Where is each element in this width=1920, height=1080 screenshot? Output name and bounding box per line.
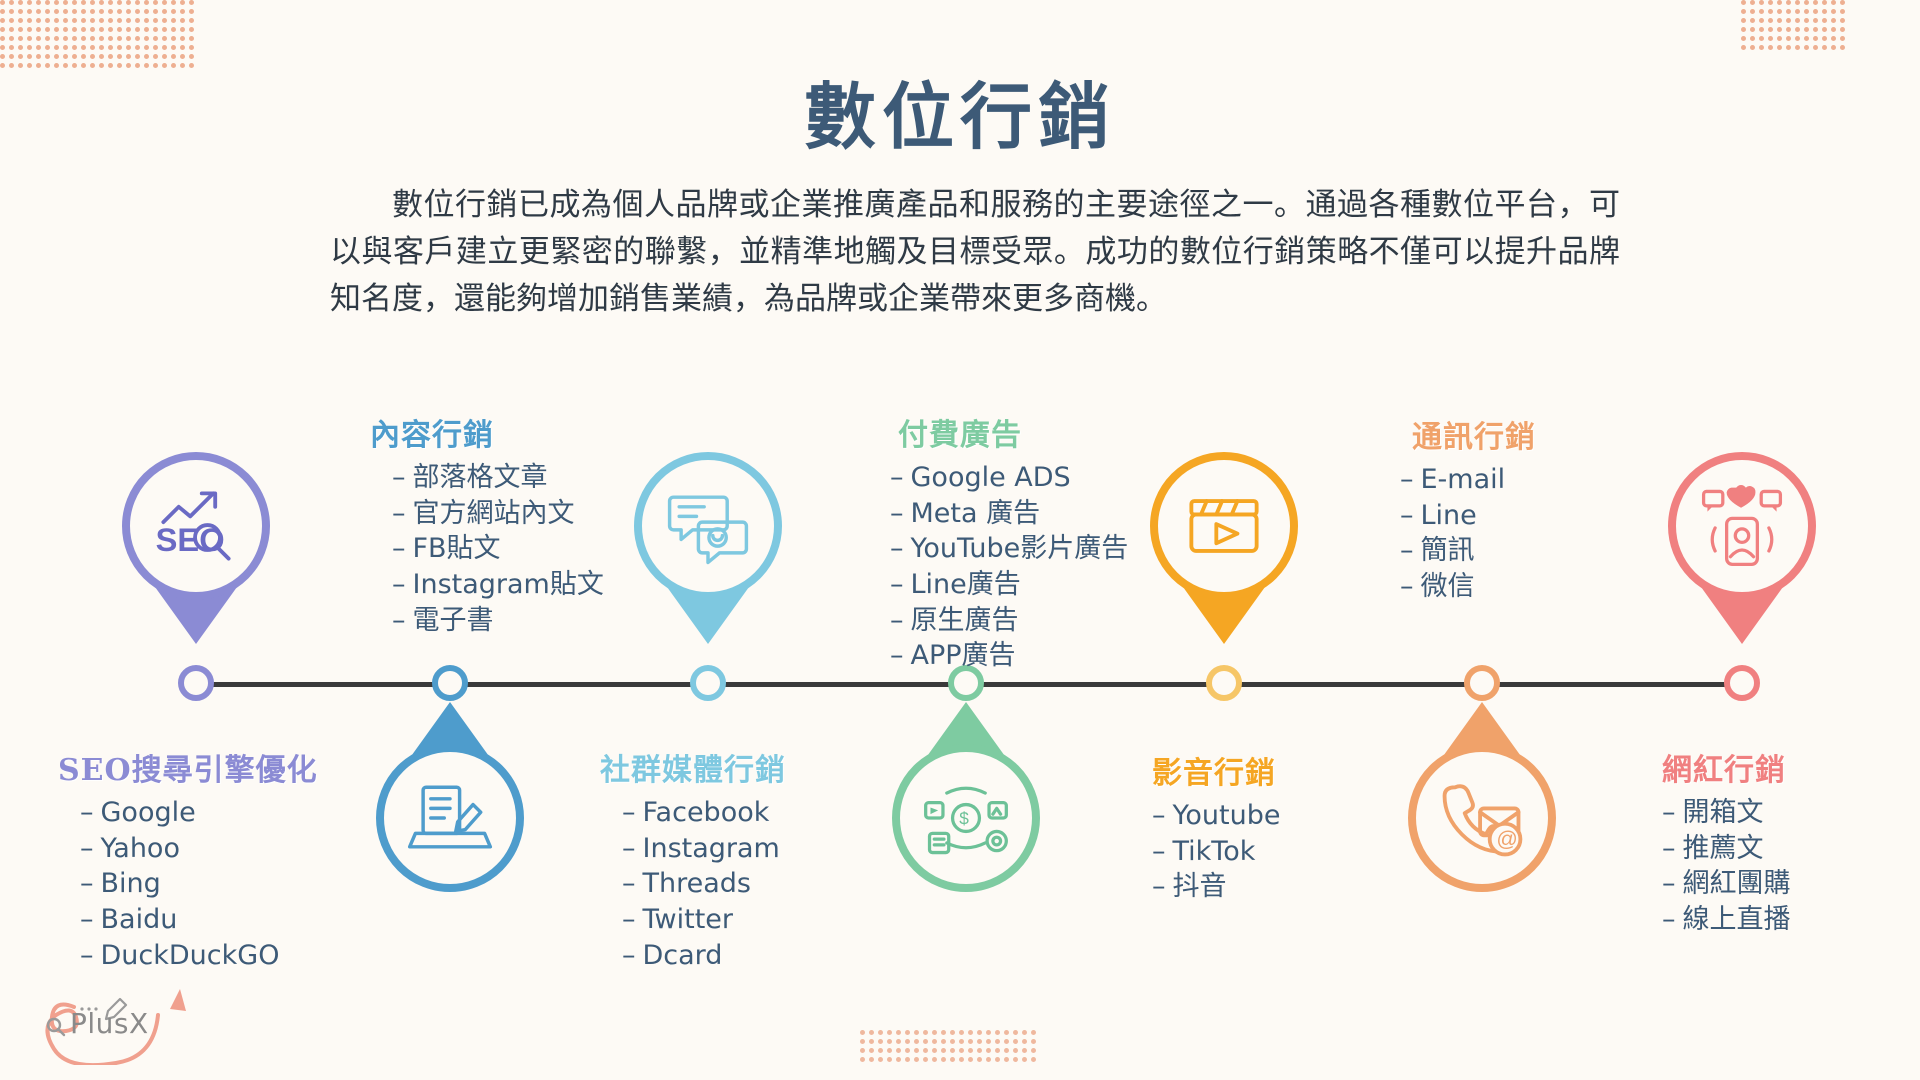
timeline-node-communication-marketing[interactable] bbox=[1464, 665, 1500, 701]
list-item: –簡訊 bbox=[1400, 533, 1536, 569]
pin-bulb-seo: SEO bbox=[122, 452, 270, 600]
seo-chart-magnifier-icon: SEO bbox=[148, 478, 244, 574]
pin-bulb-content-marketing bbox=[376, 744, 524, 892]
document-pencil-laptop-icon bbox=[402, 770, 498, 866]
pin-content-marketing[interactable] bbox=[376, 702, 524, 892]
chat-bubbles-icon bbox=[660, 478, 756, 574]
list-item: –Line廣告 bbox=[890, 567, 1128, 603]
list-item: –電子書 bbox=[392, 603, 604, 639]
section-heading-content-marketing: 內容行銷 bbox=[370, 410, 604, 454]
intro-paragraph: 數位行銷已成為個人品牌或企業推廣產品和服務的主要途徑之一。通過各種數位平台，可以… bbox=[330, 182, 1620, 323]
section-social-media-marketing: 社群媒體行銷 –Facebook –Instagram –Threads –Tw… bbox=[600, 745, 786, 973]
section-heading-video-marketing: 影音行銷 bbox=[1152, 748, 1281, 792]
list-item: –Baidu bbox=[80, 902, 318, 938]
list-item: –Google ADS bbox=[890, 460, 1128, 496]
pin-bulb-communication-marketing: @ bbox=[1408, 744, 1556, 892]
section-heading-paid-advertising: 付費廣告 bbox=[898, 410, 1128, 454]
list-item: –APP廣告 bbox=[890, 638, 1128, 674]
list-item: –E-mail bbox=[1400, 462, 1536, 498]
svg-text:@: @ bbox=[1496, 828, 1517, 851]
list-item: –Dcard bbox=[622, 938, 786, 974]
pin-bulb-influencer-marketing bbox=[1668, 452, 1816, 600]
timeline-node-video-marketing[interactable] bbox=[1206, 665, 1242, 701]
plusx-logo: PlusX bbox=[22, 985, 192, 1065]
phone-hearts-icon bbox=[1694, 478, 1790, 574]
section-list-social-media-marketing: –Facebook –Instagram –Threads –Twitter –… bbox=[600, 795, 786, 973]
section-content-marketing: 內容行銷 –部落格文章 –官方網站內文 –FB貼文 –Instagram貼文 –… bbox=[370, 410, 604, 638]
timeline-node-social-media-marketing[interactable] bbox=[690, 665, 726, 701]
section-list-video-marketing: –Youtube –TikTok –抖音 bbox=[1130, 798, 1281, 905]
list-item: –微信 bbox=[1400, 569, 1536, 605]
list-item: –TikTok bbox=[1152, 834, 1281, 870]
list-item: –官方網站內文 bbox=[392, 496, 604, 532]
page-title: 數位行銷 bbox=[0, 58, 1920, 163]
list-item: –DuckDuckGO bbox=[80, 938, 318, 974]
phone-envelope-at-icon: @ bbox=[1434, 770, 1530, 866]
section-list-paid-advertising: –Google ADS –Meta 廣告 –YouTube影片廣告 –Line廣… bbox=[890, 460, 1128, 674]
list-item: –Twitter bbox=[622, 902, 786, 938]
list-item: –部落格文章 bbox=[392, 460, 604, 496]
section-communication-marketing: 通訊行銷 –E-mail –Line –簡訊 –微信 bbox=[1400, 412, 1536, 605]
timeline-node-seo[interactable] bbox=[178, 665, 214, 701]
list-item: –Facebook bbox=[622, 795, 786, 831]
timeline-node-influencer-marketing[interactable] bbox=[1724, 665, 1760, 701]
pin-video-marketing[interactable] bbox=[1150, 452, 1298, 644]
list-item: –開箱文 bbox=[1662, 795, 1791, 831]
section-heading-social-media-marketing: 社群媒體行銷 bbox=[600, 745, 786, 789]
pin-bulb-paid-advertising: $ bbox=[892, 744, 1040, 892]
section-list-communication-marketing: –E-mail –Line –簡訊 –微信 bbox=[1400, 462, 1536, 605]
section-list-influencer-marketing: –開箱文 –推薦文 –網紅團購 –線上直播 bbox=[1640, 795, 1791, 938]
pin-bulb-social-media-marketing bbox=[634, 452, 782, 600]
pin-bulb-video-marketing bbox=[1150, 452, 1298, 600]
list-item: –Line bbox=[1400, 498, 1536, 534]
clapperboard-play-icon bbox=[1176, 478, 1272, 574]
section-influencer-marketing: 網紅行銷 –開箱文 –推薦文 –網紅團購 –線上直播 bbox=[1640, 745, 1791, 938]
section-heading-influencer-marketing: 網紅行銷 bbox=[1662, 745, 1791, 789]
list-item: –Instagram貼文 bbox=[392, 567, 604, 603]
list-item: –YouTube影片廣告 bbox=[890, 531, 1128, 567]
section-video-marketing: 影音行銷 –Youtube –TikTok –抖音 bbox=[1130, 748, 1281, 905]
section-list-content-marketing: –部落格文章 –官方網站內文 –FB貼文 –Instagram貼文 –電子書 bbox=[370, 460, 604, 638]
list-item: –線上直播 bbox=[1662, 902, 1791, 938]
list-item: –Youtube bbox=[1152, 798, 1281, 834]
list-item: –Meta 廣告 bbox=[890, 496, 1128, 532]
list-item: –FB貼文 bbox=[392, 531, 604, 567]
section-heading-communication-marketing: 通訊行銷 bbox=[1412, 412, 1536, 456]
list-item: –Google bbox=[80, 795, 318, 831]
list-item: –Threads bbox=[622, 866, 786, 902]
megaphone-ads-icon: $ bbox=[918, 770, 1014, 866]
section-list-seo: –Google –Yahoo –Bing –Baidu –DuckDuckGO bbox=[58, 795, 318, 973]
list-item: –推薦文 bbox=[1662, 831, 1791, 867]
svg-text:$: $ bbox=[959, 809, 969, 829]
list-item: –Bing bbox=[80, 866, 318, 902]
section-paid-advertising: 付費廣告 –Google ADS –Meta 廣告 –YouTube影片廣告 –… bbox=[890, 410, 1128, 674]
list-item: –Instagram bbox=[622, 831, 786, 867]
pin-paid-advertising[interactable]: $ bbox=[892, 702, 1040, 892]
pin-influencer-marketing[interactable] bbox=[1668, 452, 1816, 644]
list-item: –抖音 bbox=[1152, 869, 1281, 905]
list-item: –Yahoo bbox=[80, 831, 318, 867]
pin-seo[interactable]: SEO bbox=[122, 452, 270, 644]
timeline-node-content-marketing[interactable] bbox=[432, 665, 468, 701]
list-item: –原生廣告 bbox=[890, 603, 1128, 639]
pin-communication-marketing[interactable]: @ bbox=[1408, 702, 1556, 892]
pin-social-media-marketing[interactable] bbox=[634, 452, 782, 644]
section-seo: SEO搜尋引擎優化 –Google –Yahoo –Bing –Baidu –D… bbox=[58, 745, 318, 973]
infographic-canvas: 數位行銷 數位行銷已成為個人品牌或企業推廣產品和服務的主要途徑之一。通過各種數位… bbox=[0, 0, 1920, 1080]
section-heading-seo: SEO搜尋引擎優化 bbox=[58, 745, 318, 789]
list-item: –網紅團購 bbox=[1662, 866, 1791, 902]
logo-text: PlusX bbox=[70, 1007, 149, 1040]
